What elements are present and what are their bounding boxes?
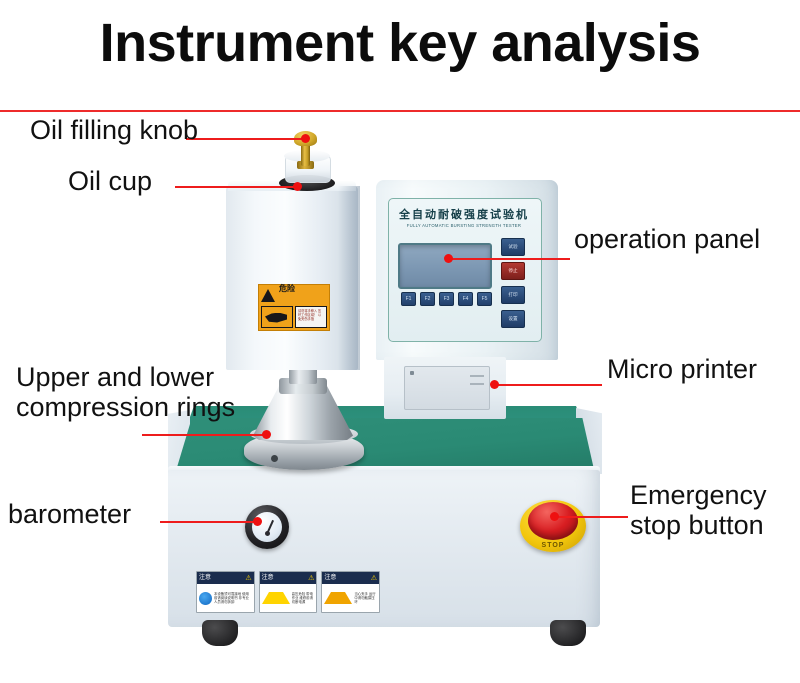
- printer-indicator-icon: [410, 371, 414, 375]
- caution-label-1-text: 本设备须可靠接地 使用前请阅读说明书 非专业人员请勿拆卸: [214, 592, 252, 605]
- ground-symbol-icon: [199, 592, 212, 605]
- caution-label-3-heading: 注意: [324, 575, 336, 581]
- function-key-f5[interactable]: F5: [477, 292, 492, 306]
- function-key-f4[interactable]: F4: [458, 292, 473, 306]
- electric-shock-triangle-icon: [262, 592, 290, 604]
- panel-title-chinese: 全自动耐破强度试验机: [388, 210, 540, 221]
- function-key-f2[interactable]: F2: [420, 292, 435, 306]
- function-key-f1[interactable]: F1: [401, 292, 416, 306]
- caution-label-3-head: 注意 ⚠: [322, 572, 379, 584]
- caution-label-2: 注意 ⚠ 高压危险 带电作业 维修前请切断电源: [259, 571, 318, 613]
- callout-emergency-stop: Emergency stop button: [630, 480, 795, 540]
- hazard-danger-sticker: 危险 DANGER 请勿将手伸入 压环工作区域！ 以免夹伤手指: [258, 284, 330, 331]
- side-key-test[interactable]: 试验: [501, 238, 525, 256]
- leader-dot-barometer: [253, 517, 262, 526]
- callout-barometer: barometer: [8, 500, 131, 530]
- function-key-f3[interactable]: F3: [439, 292, 454, 306]
- caution-label-3: 注意 ⚠ 当心夹手 运行中请勿触摸压环: [321, 571, 380, 613]
- ring-screw-hole: [271, 455, 278, 462]
- callout-operation-panel: operation panel: [574, 225, 760, 255]
- hazard-heading: 危险: [279, 284, 295, 293]
- caution-label-2-heading: 注意: [262, 575, 274, 581]
- machine-foot-right: [550, 620, 586, 646]
- caution-label-3-body: 当心夹手 运行中请勿触摸压环: [322, 584, 379, 612]
- leader-line-barometer: [160, 521, 260, 523]
- printer-paper-slot-line-2: [470, 383, 484, 385]
- hazard-sticker-body: 请勿将手伸入 压环工作区域！ 以免夹伤手指: [261, 306, 327, 329]
- instrument-illustration: 注意 ⚠ 本设备须可靠接地 使用前请阅读说明书 非专业人员请勿拆卸 注意 ⚠ 高…: [0, 0, 800, 683]
- emergency-stop-cap: [528, 502, 578, 540]
- danger-triangle-icon: [261, 289, 275, 302]
- pinch-hazard-triangle-icon: [324, 592, 352, 604]
- panel-side-key-column: 试验 停止 打印 设置: [501, 238, 525, 328]
- oil-column-shading: [338, 186, 360, 370]
- emergency-stop-button[interactable]: STOP: [520, 500, 586, 552]
- leader-dot-emergency-stop: [550, 512, 559, 521]
- caution-label-1-heading: 注意: [199, 575, 211, 581]
- leader-dot-micro-printer: [490, 380, 499, 389]
- leader-dot-compression-rings: [262, 430, 271, 439]
- side-key-stop[interactable]: 停止: [501, 262, 525, 280]
- leader-line-compression-rings: [142, 434, 266, 436]
- micro-printer-cover[interactable]: [404, 366, 490, 410]
- callout-compression-rings: Upper and lower compression rings: [16, 362, 246, 422]
- caution-label-1-body: 本设备须可靠接地 使用前请阅读说明书 非专业人员请勿拆卸: [197, 584, 254, 612]
- function-key-row: F1 F2 F3 F4 F5: [401, 292, 492, 306]
- caution-label-1-head: 注意 ⚠: [197, 572, 254, 584]
- machine-foot-left: [202, 620, 238, 646]
- caution-label-2-body: 高压危险 带电作业 维修前请切断电源: [260, 584, 317, 612]
- warning-triangle-icon: ⚠: [308, 575, 314, 582]
- printer-paper-slot-line-1: [470, 375, 484, 377]
- caution-label-2-head: 注意 ⚠: [260, 572, 317, 584]
- leader-line-operation-panel: [448, 258, 570, 260]
- side-key-set[interactable]: 设置: [501, 310, 525, 328]
- hazard-note-text: 请勿将手伸入 压环工作区域！ 以免夹伤手指: [295, 306, 327, 329]
- caution-label-2-text: 高压危险 带电作业 维修前请切断电源: [292, 592, 315, 605]
- crushed-hand-pictogram-icon: [261, 306, 293, 329]
- hand-shape-icon: [265, 313, 287, 323]
- caution-label-1: 注意 ⚠ 本设备须可靠接地 使用前请阅读说明书 非专业人员请勿拆卸: [196, 571, 255, 613]
- leader-dot-operation-panel: [444, 254, 453, 263]
- leader-dot-oil-filling-knob: [301, 134, 310, 143]
- callout-micro-printer: Micro printer: [607, 355, 757, 385]
- leader-line-oil-filling-knob: [186, 138, 305, 140]
- bottom-warning-label-strip: 注意 ⚠ 本设备须可靠接地 使用前请阅读说明书 非专业人员请勿拆卸 注意 ⚠ 高…: [196, 571, 380, 613]
- warning-triangle-icon: ⚠: [371, 575, 377, 582]
- hazard-sticker-head: 危险 DANGER: [261, 287, 327, 304]
- emergency-stop-label: STOP: [520, 542, 586, 549]
- caution-label-3-text: 当心夹手 运行中请勿触摸压环: [354, 592, 377, 605]
- warning-triangle-icon: ⚠: [245, 575, 251, 582]
- leader-line-micro-printer: [494, 384, 602, 386]
- callout-oil-filling-knob: Oil filling knob: [30, 116, 198, 146]
- leader-line-oil-cup: [175, 186, 297, 188]
- panel-title-english: FULLY AUTOMATIC BURSTING STRENGTH TESTER: [388, 224, 540, 228]
- barometer-hub: [265, 531, 270, 536]
- lcd-display[interactable]: [398, 243, 492, 289]
- leader-dot-oil-cup: [293, 182, 302, 191]
- side-key-print[interactable]: 打印: [501, 286, 525, 304]
- barometer-gauge[interactable]: [245, 505, 289, 549]
- callout-oil-cup: Oil cup: [68, 167, 152, 197]
- leader-line-emergency-stop: [556, 516, 628, 518]
